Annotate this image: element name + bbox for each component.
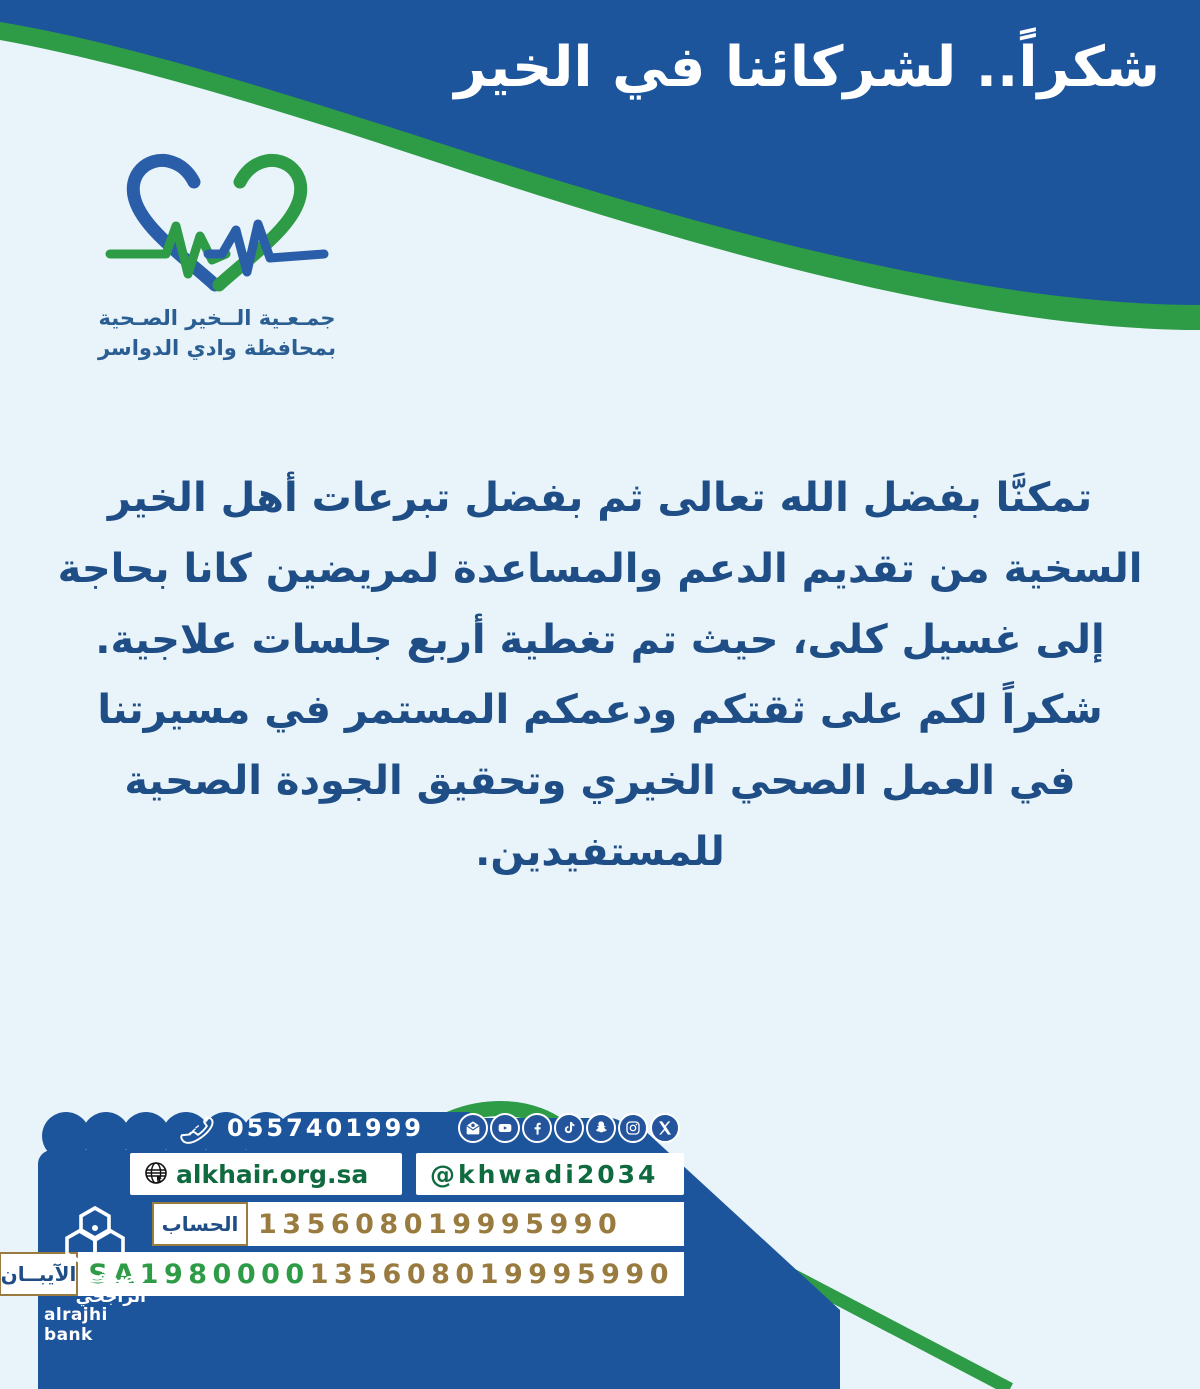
poster-root: شكراً.. لشركائنا في الخير جمـعـية الــخي… (0, 0, 1200, 1389)
org-name-line-1: جمـعـية الــخير الصـحية (99, 306, 336, 330)
account-number: 135608019995990 (258, 1209, 622, 1240)
x-twitter-icon[interactable] (650, 1113, 680, 1143)
facebook-icon[interactable] (522, 1113, 552, 1143)
account-row: 135608019995990 الحساب (154, 1202, 684, 1246)
body-line-5: في العمل الصحي الخيري وتحقيق الجودة الصح… (48, 749, 1152, 814)
instagram-icon[interactable] (618, 1113, 648, 1143)
phone-contact[interactable]: 0557401999 (177, 1108, 424, 1148)
bank-details: 135608019995990 الحساب SA198000013560801… (44, 1202, 684, 1345)
iban-number-box[interactable]: SA1980000135608019995990 (78, 1252, 684, 1296)
body-line-2: السخية من تقديم الدعم والمساعدة لمريضين … (48, 537, 1152, 602)
body-line-6: للمستفيدين. (48, 820, 1152, 885)
account-label-box: الحساب (152, 1202, 248, 1246)
iban-number: SA1980000135608019995990 (88, 1259, 674, 1290)
website-text: alkhair.org.sa (176, 1160, 368, 1189)
iban-row: SA1980000135608019995990 الآيبــان (154, 1252, 684, 1296)
email-icon[interactable] (458, 1113, 488, 1143)
youtube-icon[interactable] (490, 1113, 520, 1143)
globe-icon (144, 1161, 170, 1187)
social-handle-pill[interactable]: @khwadi2034 (416, 1153, 684, 1195)
bank-name-english: alrajhi bank (44, 1305, 146, 1345)
org-name-line-2: بمحافظة وادي الدواسر (62, 334, 372, 364)
account-label: الحساب (162, 1212, 239, 1236)
bank-name-arabic: مصرف الراجحي (44, 1267, 146, 1307)
phone-number: 0557401999 (227, 1114, 424, 1142)
heart-ecg-logo-icon (102, 148, 332, 298)
website-pill[interactable]: alkhair.org.sa (130, 1153, 402, 1195)
iban-suffix: 135608019995990 (310, 1259, 674, 1290)
social-and-phone-row: 0557401999 (44, 1108, 684, 1148)
alrajhi-hexagon-icon (62, 1204, 128, 1266)
snapchat-icon[interactable] (586, 1113, 616, 1143)
alrajhi-bank-logo: مصرف الراجحي alrajhi bank (44, 1202, 146, 1345)
body-line-1: تمكنَّا بفضل الله تعالى ثم بفضل تبرعات أ… (48, 466, 1152, 531)
handle-and-website-row: @khwadi2034 alkhair.org.sa (44, 1153, 684, 1195)
footer-contact-panel: 0557401999 @khwadi2034 (44, 1108, 684, 1345)
body-line-4: شكراً لكم على ثقتكم ودعمكم المستمر في مس… (48, 678, 1152, 743)
phone-handset-icon (177, 1111, 219, 1145)
body-message: تمكنَّا بفضل الله تعالى ثم بفضل تبرعات أ… (48, 466, 1152, 885)
tiktok-icon[interactable] (554, 1113, 584, 1143)
organization-name: جمـعـية الــخير الصـحية بمحافظة وادي الد… (62, 304, 372, 364)
page-title: شكراً.. لشركائنا في الخير (380, 36, 1160, 100)
organization-logo: جمـعـية الــخير الصـحية بمحافظة وادي الد… (62, 148, 372, 364)
body-line-3: إلى غسيل كلى، حيث تم تغطية أربع جلسات عل… (48, 608, 1152, 673)
social-handle-text: @khwadi2034 (430, 1160, 658, 1189)
account-number-box[interactable]: 135608019995990 (248, 1202, 684, 1246)
social-links (454, 1108, 684, 1148)
bank-number-rows: 135608019995990 الحساب SA198000013560801… (154, 1202, 684, 1302)
